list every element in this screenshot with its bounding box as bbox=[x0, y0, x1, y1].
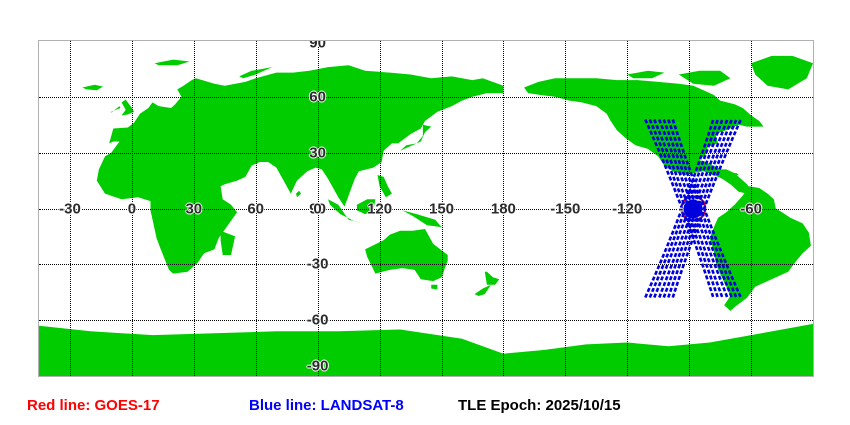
legend-red-line-label: Red line: GOES-17 bbox=[27, 398, 160, 413]
latitude-tick-label: 60 bbox=[309, 89, 326, 104]
latitude-tick-label: 30 bbox=[309, 145, 326, 160]
longitude-tick-label: 60 bbox=[247, 201, 264, 216]
longitude-tick-label: 30 bbox=[185, 201, 202, 216]
map-canvas: -300306090120150180-150-120-90-609060300… bbox=[39, 41, 813, 376]
longitude-tick-label: -30 bbox=[59, 201, 81, 216]
longitude-tick-label: 120 bbox=[367, 201, 392, 216]
latitude-tick-label: -60 bbox=[307, 313, 329, 328]
world-map-ground-track-view: -300306090120150180-150-120-90-609060300… bbox=[0, 0, 850, 425]
longitude-tick-label: 180 bbox=[491, 201, 516, 216]
latitude-tick-label: 0 bbox=[313, 201, 321, 216]
latitude-tick-label: -90 bbox=[307, 359, 329, 374]
latitude-tick-label: 90 bbox=[309, 41, 326, 51]
longitude-tick-label: -60 bbox=[740, 201, 762, 216]
latitude-tick-label: -30 bbox=[307, 257, 329, 272]
longitude-tick-label: -150 bbox=[550, 201, 580, 216]
map-plot-area: -300306090120150180-150-120-90-609060300… bbox=[38, 40, 814, 377]
longitude-tick-label: -120 bbox=[612, 201, 642, 216]
landsat8-position-marker bbox=[684, 199, 703, 218]
longitude-tick-label: 150 bbox=[429, 201, 454, 216]
legend: Red line: GOES-17 Blue line: LANDSAT-8 T… bbox=[0, 392, 850, 418]
legend-blue-line-label: Blue line: LANDSAT-8 bbox=[249, 398, 404, 413]
longitude-tick-label: 0 bbox=[128, 201, 136, 216]
legend-tle-epoch-label: TLE Epoch: 2025/10/15 bbox=[458, 398, 621, 413]
